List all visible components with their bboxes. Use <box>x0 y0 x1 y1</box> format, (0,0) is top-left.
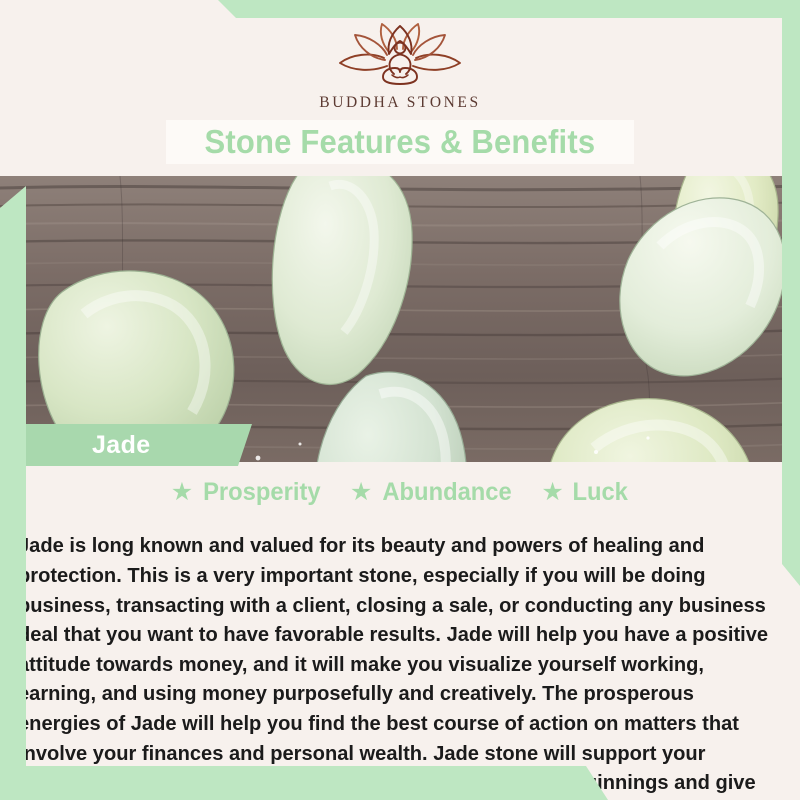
stone-description: Jade is long known and valued for its be… <box>18 532 774 800</box>
poster-header: BUDDHA STONES Stone Features & Benefits <box>0 0 800 176</box>
benefit-label: Prosperity <box>203 478 320 507</box>
benefit-label: Luck <box>572 478 627 507</box>
lotus-meditation-icon <box>327 22 473 88</box>
brand-wordmark: BUDDHA STONES <box>319 94 480 112</box>
star-icon: ★ <box>541 480 563 505</box>
benefits-row: ★ Prosperity ★ Abundance ★ Luck <box>0 478 800 507</box>
benefit-item-prosperity: ★ Prosperity <box>171 478 324 507</box>
stone-benefits-poster: BUDDHA STONES Stone Features & Benefits <box>0 0 800 800</box>
page-title-bar: Stone Features & Benefits <box>166 120 634 164</box>
star-icon: ★ <box>171 480 193 505</box>
benefit-item-luck: ★ Luck <box>541 478 629 507</box>
stone-name-badge: Jade <box>0 424 252 466</box>
page-title: Stone Features & Benefits <box>205 123 596 161</box>
benefit-label: Abundance <box>383 478 512 507</box>
brand-logo: BUDDHA STONES <box>0 22 800 112</box>
hero-photo <box>0 176 800 462</box>
star-icon: ★ <box>350 480 372 505</box>
benefit-item-abundance: ★ Abundance <box>350 478 516 507</box>
stone-name-label: Jade <box>92 431 151 460</box>
